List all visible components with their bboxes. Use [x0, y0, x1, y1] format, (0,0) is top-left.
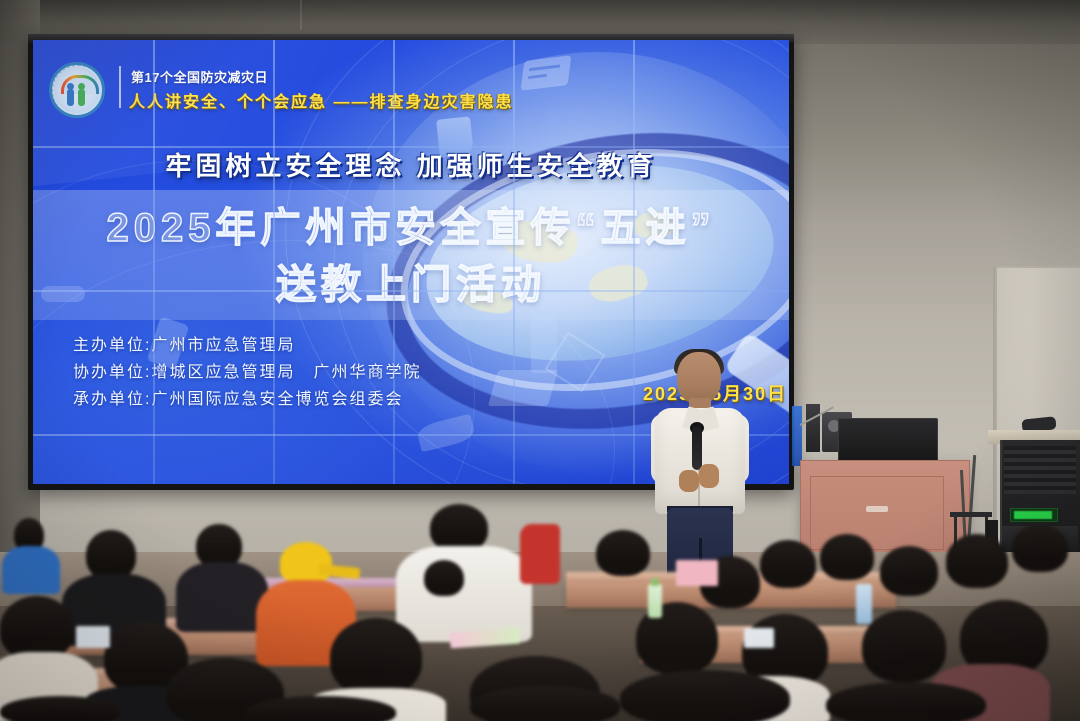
banner-line-2: 人人讲安全、个个会应急 ——排查身边灾害隐患: [129, 88, 513, 112]
panel-seam-vertical: [273, 40, 275, 484]
audience-head: [820, 534, 874, 580]
organizer-name: 广州国际应急安全博览会组委会: [151, 391, 403, 408]
handout-paper: [450, 628, 521, 649]
audience-head: [0, 596, 74, 660]
ceiling-seam: [300, 0, 302, 30]
rack-vent-grid: [1004, 446, 1076, 494]
audience-head-foreground: [470, 686, 620, 721]
pink-paper: [676, 560, 718, 586]
organizer-block: 主办单位:广州市应急管理局 协办单位:增城区应急管理局广州华商学院 承办单位:广…: [73, 332, 421, 413]
audience-head-foreground: [620, 670, 790, 721]
figure-body-icon: [67, 89, 74, 106]
panel-seam-vertical: [513, 40, 515, 484]
seated-audience: [0, 500, 1080, 721]
panel-seam-horizontal: [33, 146, 789, 148]
organizer-role: 协办单位:: [73, 364, 151, 381]
disaster-prevention-emblem: [49, 62, 105, 118]
panel-seam-vertical: [633, 40, 635, 484]
audience-head: [946, 534, 1008, 588]
presenter-head: [677, 352, 721, 404]
audience-head: [86, 530, 136, 580]
audience-body-red: [520, 524, 560, 584]
organizer-row: 承办单位:广州国际应急安全博览会组委会: [73, 386, 421, 413]
water-bottle: [648, 584, 662, 618]
presenter-hand-right: [699, 464, 719, 488]
slide-title-line-1: 2025年广州市安全宣传“五进”: [33, 195, 789, 253]
audience-head: [760, 540, 816, 588]
conference-room-photo: 第17个全国防灾减灾日 人人讲安全、个个会应急 ——排查身边灾害隐患 牢固树立安…: [0, 0, 1080, 721]
lectern-monitor: [838, 418, 938, 466]
panel-seam-vertical: [153, 40, 155, 484]
organizer-role: 承办单位:: [73, 391, 151, 408]
audience-head: [1012, 524, 1068, 572]
blue-light-strip: [792, 406, 802, 466]
audience-body: [176, 562, 268, 632]
organizer-row: 协办单位:增城区应急管理局广州华商学院: [73, 359, 421, 386]
organizer-row: 主办单位:广州市应急管理局: [73, 332, 421, 359]
audience-body: [2, 546, 60, 594]
panel-seam-horizontal: [33, 290, 789, 292]
banner-line-1: 第17个全国防灾减灾日: [131, 67, 268, 86]
audience-head: [430, 504, 488, 552]
presenter-hand-left: [679, 470, 699, 492]
audience-head-with-cap: [280, 542, 332, 582]
slide-title-line-2: 送教上门活动: [33, 252, 789, 310]
audience-head: [424, 560, 464, 596]
organizer-role: 主办单位:: [73, 337, 151, 354]
audience-head: [862, 610, 946, 682]
audience-head: [880, 546, 938, 596]
audience-head-foreground: [0, 696, 120, 721]
tablet-device: [76, 626, 110, 648]
handheld-microphone: [692, 426, 702, 470]
slide-headline: 牢固树立安全理念 加强师生安全教育: [33, 146, 789, 183]
computer-tower-secondary: [806, 404, 820, 452]
figure-body-icon: [78, 89, 85, 106]
audience-head: [596, 530, 650, 576]
bottle-cap: [651, 578, 659, 586]
water-bottle: [856, 584, 872, 624]
organizer-name: 广州华商学院: [313, 364, 421, 381]
audience-head: [330, 618, 422, 696]
panel-seam-vertical: [393, 40, 395, 484]
tablet-device: [744, 628, 774, 648]
audience-head-foreground: [246, 696, 396, 721]
divider: [119, 66, 121, 108]
audience-head-foreground: [826, 682, 986, 721]
